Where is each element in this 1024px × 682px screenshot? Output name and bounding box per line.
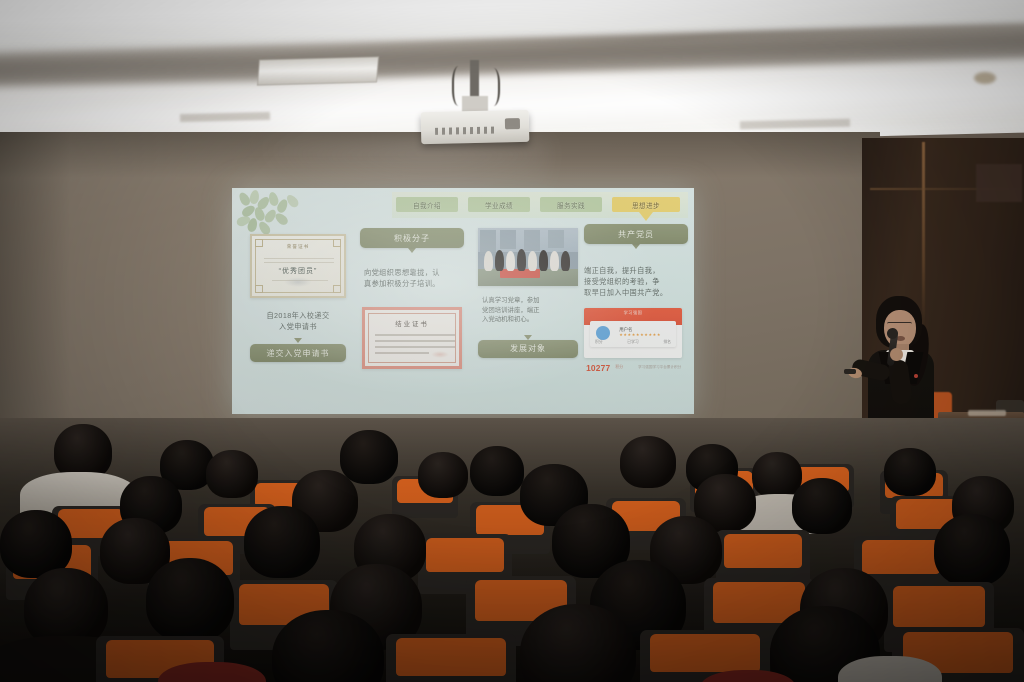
column-1-caption: 自2018年入校递交 入党申请书 xyxy=(250,310,346,332)
audience-head xyxy=(470,446,524,496)
app-stat-2: 排名 xyxy=(663,340,671,345)
slide-nav-tabbar: 自我介绍 学业成绩 服务实践 思想进步 xyxy=(392,192,688,218)
audience-head xyxy=(244,506,320,578)
column-2-caption: 向党组织思想靠拢，认 真参加积极分子培训。 xyxy=(360,267,464,289)
audience-head xyxy=(146,558,234,642)
wall-plaque xyxy=(976,164,1022,202)
certificate-highlight: “优秀团员” xyxy=(252,266,344,276)
presenter-right-hand xyxy=(890,348,903,361)
audience-head xyxy=(620,436,676,488)
slide-tab-2[interactable]: 服务实践 xyxy=(540,197,602,212)
column-2-header: 积极分子 xyxy=(360,228,464,248)
slide-column-1: 荣誉证书 “优秀团员” 自2018年入校递交 入党申请书 递交入党申请书 xyxy=(250,234,346,362)
completion-certificate: 结业证书 xyxy=(362,307,462,369)
app-avatar-icon xyxy=(596,326,610,340)
lapel-pin xyxy=(914,374,918,378)
audience-head xyxy=(340,430,398,484)
recessed-light-panel xyxy=(257,56,379,85)
app-score-row: 10277 积分 学习强国学习平台累计积分 xyxy=(584,358,688,372)
column-4-header: 共产党员 xyxy=(584,224,688,244)
slide-tab-0[interactable]: 自我介绍 xyxy=(396,197,458,212)
projection-screen: 自我介绍 学业成绩 服务实践 思想进步 荣誉证书 “优秀团员” 自2018年入校… xyxy=(232,188,694,414)
completion-certificate-title: 结业证书 xyxy=(365,319,459,328)
column-3-caption: 认真学习党章，参加 党团培训讲座，端正 入党动机和初心。 xyxy=(478,296,578,325)
app-stat-row: 积分 已学习 排名 xyxy=(595,340,671,345)
projector-vent-grille xyxy=(435,127,497,135)
ceiling-projector xyxy=(421,110,530,144)
study-app-screenshot: 学习强国 用户名 ★★★★★★★★★★ 积分 已学习 排名 xyxy=(584,308,682,358)
app-score-note: 学习强国学习平台累计积分 xyxy=(638,365,681,370)
certificate-seal xyxy=(284,277,312,287)
audience-head xyxy=(934,514,1010,586)
slide-column-3: 认真学习党章，参加 党团培训讲座，端正 入党动机和初心。 发展对象 xyxy=(478,228,578,358)
certificate-title: 荣誉证书 xyxy=(252,244,344,250)
audience-head xyxy=(418,452,468,498)
app-stat-0: 积分 xyxy=(595,340,603,345)
column-4-caption: 端正自我，提升自我， 接受党组织的考验，争 取早日加入中国共产党。 xyxy=(584,265,688,298)
ceiling-spot-light xyxy=(974,72,996,84)
microphone-head xyxy=(887,328,898,339)
leaf-decoration xyxy=(236,190,306,236)
presentation-clicker xyxy=(844,369,856,374)
app-score-value: 10277 xyxy=(586,363,610,373)
lecture-hall-scene: 自我介绍 学业成绩 服务实践 思想进步 荣誉证书 “优秀团员” 自2018年入校… xyxy=(0,0,1024,682)
slide-tab-3[interactable]: 思想进步 xyxy=(612,197,680,212)
audience-head xyxy=(884,448,936,496)
seat xyxy=(386,634,516,682)
app-stars: ★★★★★★★★★★ xyxy=(619,332,661,337)
slide-tab-1[interactable]: 学业成绩 xyxy=(468,197,530,212)
app-stat-1: 已学习 xyxy=(627,340,638,345)
app-title: 学习强国 xyxy=(584,310,682,316)
app-profile-card: 用户名 ★★★★★★★★★★ 积分 已学习 排名 xyxy=(590,321,676,347)
slide-tab-active-arrow xyxy=(639,212,653,221)
group-photo xyxy=(478,228,578,286)
column-3-footer-box: 发展对象 xyxy=(478,340,578,358)
column-1-footer-box: 递交入党申请书 xyxy=(250,344,346,362)
slide-column-4: 共产党员 端正自我，提升自我， 接受党组织的考验，争 取早日加入中国共产党。 学… xyxy=(584,224,688,372)
completion-certificate-stamp xyxy=(431,351,449,358)
audience-head xyxy=(792,478,852,534)
lectern-items xyxy=(968,410,1006,416)
slide-column-2: 积极分子 向党组织思想靠拢，认 真参加积极分子培训。 结业证书 xyxy=(360,228,464,369)
audience-area xyxy=(0,418,1024,682)
app-score-unit: 积分 xyxy=(615,364,623,370)
audience-head xyxy=(206,450,258,498)
honor-certificate: 荣誉证书 “优秀团员” xyxy=(250,234,346,298)
